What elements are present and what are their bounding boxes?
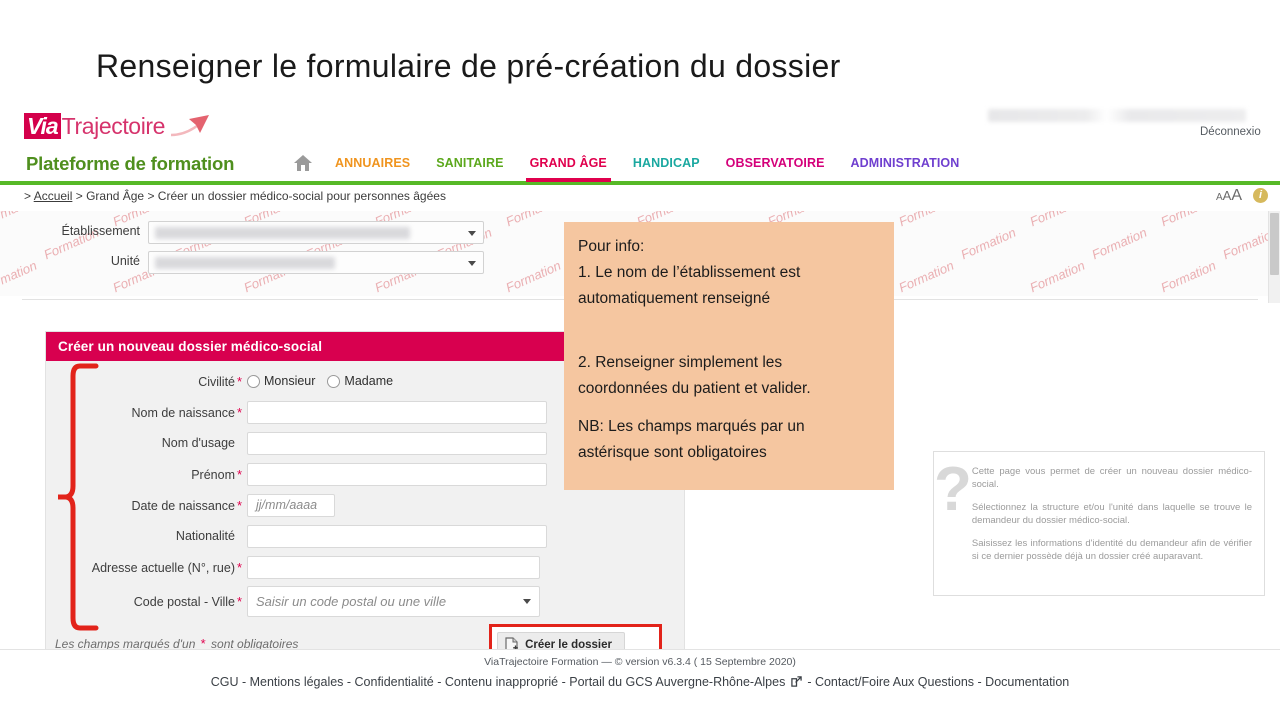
watermark-text: Formation <box>1158 211 1218 229</box>
prenom-input[interactable] <box>247 463 547 486</box>
adresse-input[interactable] <box>247 556 540 579</box>
breadcrumb: > Accueil > Grand Âge > Créer un dossier… <box>24 189 446 203</box>
adresse-label: Adresse actuelle (N°, rue) <box>92 561 235 575</box>
nav-item-handicap[interactable]: HANDICAP <box>633 156 700 178</box>
nationalite-input[interactable] <box>247 525 547 548</box>
breadcrumb-sep-2: > <box>144 189 158 203</box>
radio-madame[interactable]: Madame <box>327 374 393 388</box>
radio-circle-icon <box>247 375 260 388</box>
main-navigation: Plateforme de formation ANNUAIRES SANITA… <box>0 148 1280 185</box>
required-marker: * <box>235 560 244 575</box>
watermark-text: Formation <box>896 211 956 229</box>
field-row-date-naissance: Date de naissance* jj/mm/aaaa <box>46 493 684 517</box>
watermark-text: Formation <box>503 211 563 229</box>
radio-madame-label: Madame <box>344 374 393 388</box>
info-icon[interactable]: i <box>1253 188 1268 203</box>
nav-items: ANNUAIRES SANITAIRE GRAND ÂGE HANDICAP O… <box>335 156 985 178</box>
nationalite-label: Nationalité <box>176 529 235 543</box>
establishment-select[interactable] <box>148 221 484 244</box>
nom-usage-input[interactable] <box>247 432 547 455</box>
unit-value-redacted <box>155 257 335 269</box>
nav-item-sanitaire[interactable]: SANITAIRE <box>436 156 503 178</box>
watermark-text: Formation <box>1027 211 1087 229</box>
nav-label: ADMINISTRATION <box>851 156 960 170</box>
nom-naissance-input[interactable] <box>247 401 547 424</box>
home-icon[interactable] <box>293 154 313 172</box>
footer-links-after[interactable]: - Contact/Foire Aux Questions - Document… <box>807 675 1069 689</box>
nav-item-administration[interactable]: ADMINISTRATION <box>851 156 960 178</box>
date-naissance-input[interactable]: jj/mm/aaaa <box>247 494 335 517</box>
establishment-value-redacted <box>155 227 410 239</box>
date-naissance-placeholder: jj/mm/aaaa <box>248 495 334 516</box>
breadcrumb-item-accueil[interactable]: Accueil <box>34 189 73 203</box>
unit-label: Unité <box>111 254 140 268</box>
watermark-text: Formation <box>958 225 1018 263</box>
page-title: Renseigner le formulaire de pré-création… <box>96 48 1096 85</box>
callout-line-4: 2. Renseigner simplement les <box>578 350 880 376</box>
nav-label: OBSERVATOIRE <box>726 156 825 170</box>
nav-label: ANNUAIRES <box>335 156 410 170</box>
callout-line-5: coordonnées du patient et valider. <box>578 376 880 402</box>
date-naissance-label-wrap: Date de naissance* <box>46 498 247 513</box>
field-row-code-postal: Code postal - Ville* Saisir un code post… <box>46 586 684 617</box>
footer-links-before[interactable]: CGU - Mentions légales - Confidentialité… <box>211 675 786 689</box>
radio-monsieur[interactable]: Monsieur <box>247 374 315 388</box>
code-postal-placeholder: Saisir un code postal ou une ville <box>248 587 539 616</box>
callout-spacer-2 <box>578 402 880 414</box>
adresse-label-wrap: Adresse actuelle (N°, rue)* <box>46 560 247 575</box>
required-marker: * <box>235 405 244 420</box>
code-postal-combobox[interactable]: Saisir un code postal ou une ville <box>247 586 540 617</box>
help-paragraph-3: Saisissez les informations d'identité du… <box>972 537 1252 563</box>
help-paragraph-2: Sélectionnez la structure et/ou l'unité … <box>972 501 1252 527</box>
required-marker: * <box>235 594 244 609</box>
watermark-text: Formation <box>503 258 563 296</box>
unit-select[interactable] <box>148 251 484 274</box>
footer-version: ViaTrajectoire Formation — © version v6.… <box>0 656 1280 668</box>
chevron-down-icon <box>468 231 476 236</box>
callout-line-1: Pour info: <box>578 234 880 260</box>
field-row-nationalite: Nationalité <box>46 524 684 548</box>
breadcrumb-sep-1: > <box>72 189 86 203</box>
breadcrumb-item-grand-age[interactable]: Grand Âge <box>86 189 144 203</box>
nav-label: HANDICAP <box>633 156 700 170</box>
logout-link[interactable]: Déconnexio <box>1200 126 1261 138</box>
external-link-icon[interactable] <box>791 676 802 687</box>
watermark-text: Formation <box>1089 225 1149 263</box>
callout-line-7: astérisque sont obligatoires <box>578 440 880 466</box>
radio-circle-icon <box>327 375 340 388</box>
username-redacted <box>988 109 1246 122</box>
code-postal-label: Code postal - Ville <box>134 595 235 609</box>
chevron-down-icon <box>468 261 476 266</box>
page-footer: ViaTrajectoire Formation — © version v6.… <box>0 649 1280 695</box>
arrow-icon <box>167 113 211 139</box>
slide-canvas: Renseigner le formulaire de pré-création… <box>0 0 1280 720</box>
nav-item-observatoire[interactable]: OBSERVATOIRE <box>726 156 825 178</box>
callout-line-3: automatiquement renseigné <box>578 286 880 312</box>
prenom-label: Prénom <box>191 468 235 482</box>
breadcrumb-prefix: > <box>24 189 34 203</box>
nav-item-grand-age[interactable]: GRAND ÂGE <box>530 156 607 178</box>
platform-label: Plateforme de formation <box>26 153 234 175</box>
nom-usage-label-wrap: Nom d'usage <box>46 436 247 450</box>
viatrajectoire-logo[interactable]: ViaTrajectoire <box>24 111 211 141</box>
breadcrumb-item-current: Créer un dossier médico-social pour pers… <box>158 189 446 203</box>
civilite-radio-group: Monsieur Madame <box>247 374 405 388</box>
nom-usage-label: Nom d'usage <box>162 436 235 450</box>
radio-monsieur-label: Monsieur <box>264 374 315 388</box>
watermark-text: Formation <box>1027 258 1087 296</box>
info-callout: Pour info: 1. Le nom de l’établissement … <box>564 222 894 490</box>
help-panel: ? Cette page vous permet de créer un nou… <box>933 451 1265 596</box>
font-size-small-button[interactable]: A <box>1216 192 1223 203</box>
nav-label: GRAND ÂGE <box>530 156 607 170</box>
callout-spacer-1 <box>578 312 880 350</box>
chevron-down-icon <box>523 599 531 604</box>
nav-item-annuaires[interactable]: ANNUAIRES <box>335 156 410 178</box>
code-postal-label-wrap: Code postal - Ville* <box>46 594 247 609</box>
civilite-label-wrap: Civilité* <box>46 374 247 389</box>
footer-links: CGU - Mentions légales - Confidentialité… <box>0 675 1280 689</box>
civilite-label: Civilité <box>198 375 235 389</box>
required-marker: * <box>235 374 244 389</box>
nom-naissance-label-wrap: Nom de naissance* <box>46 405 247 420</box>
breadcrumb-bar: > Accueil > Grand Âge > Créer un dossier… <box>0 185 1280 212</box>
watermark-text: Formation <box>0 211 39 229</box>
nav-label: SANITAIRE <box>436 156 503 170</box>
callout-line-2: 1. Le nom de l’établissement est <box>578 260 880 286</box>
watermark-text: Formation <box>0 258 39 296</box>
date-naissance-label: Date de naissance <box>131 499 235 513</box>
watermark-text: Formation <box>896 258 956 296</box>
prenom-label-wrap: Prénom* <box>46 467 247 482</box>
field-row-adresse: Adresse actuelle (N°, rue)* <box>46 555 684 579</box>
font-size-controls: AAA <box>1216 187 1242 205</box>
logo-trajectoire-text: Trajectoire <box>62 113 165 139</box>
callout-line-6: NB: Les champs marqués par un <box>578 414 880 440</box>
required-marker: * <box>235 467 244 482</box>
font-size-large-button[interactable]: A <box>1231 187 1242 204</box>
help-panel-text: Cette page vous permet de créer un nouve… <box>972 452 1264 595</box>
question-mark-icon: ? <box>934 452 972 595</box>
required-marker: * <box>235 498 244 513</box>
establishment-label: Établissement <box>61 224 140 238</box>
nom-naissance-label: Nom de naissance <box>131 406 235 420</box>
watermark-text: Formation <box>1158 258 1218 296</box>
app-topbar: ViaTrajectoire Déconnexio <box>0 103 1280 148</box>
scrollbar-thumb[interactable] <box>1270 213 1279 275</box>
logo-via-text: Via <box>24 113 61 139</box>
help-paragraph-1: Cette page vous permet de créer un nouve… <box>972 465 1252 491</box>
nationalite-label-wrap: Nationalité <box>46 529 247 543</box>
